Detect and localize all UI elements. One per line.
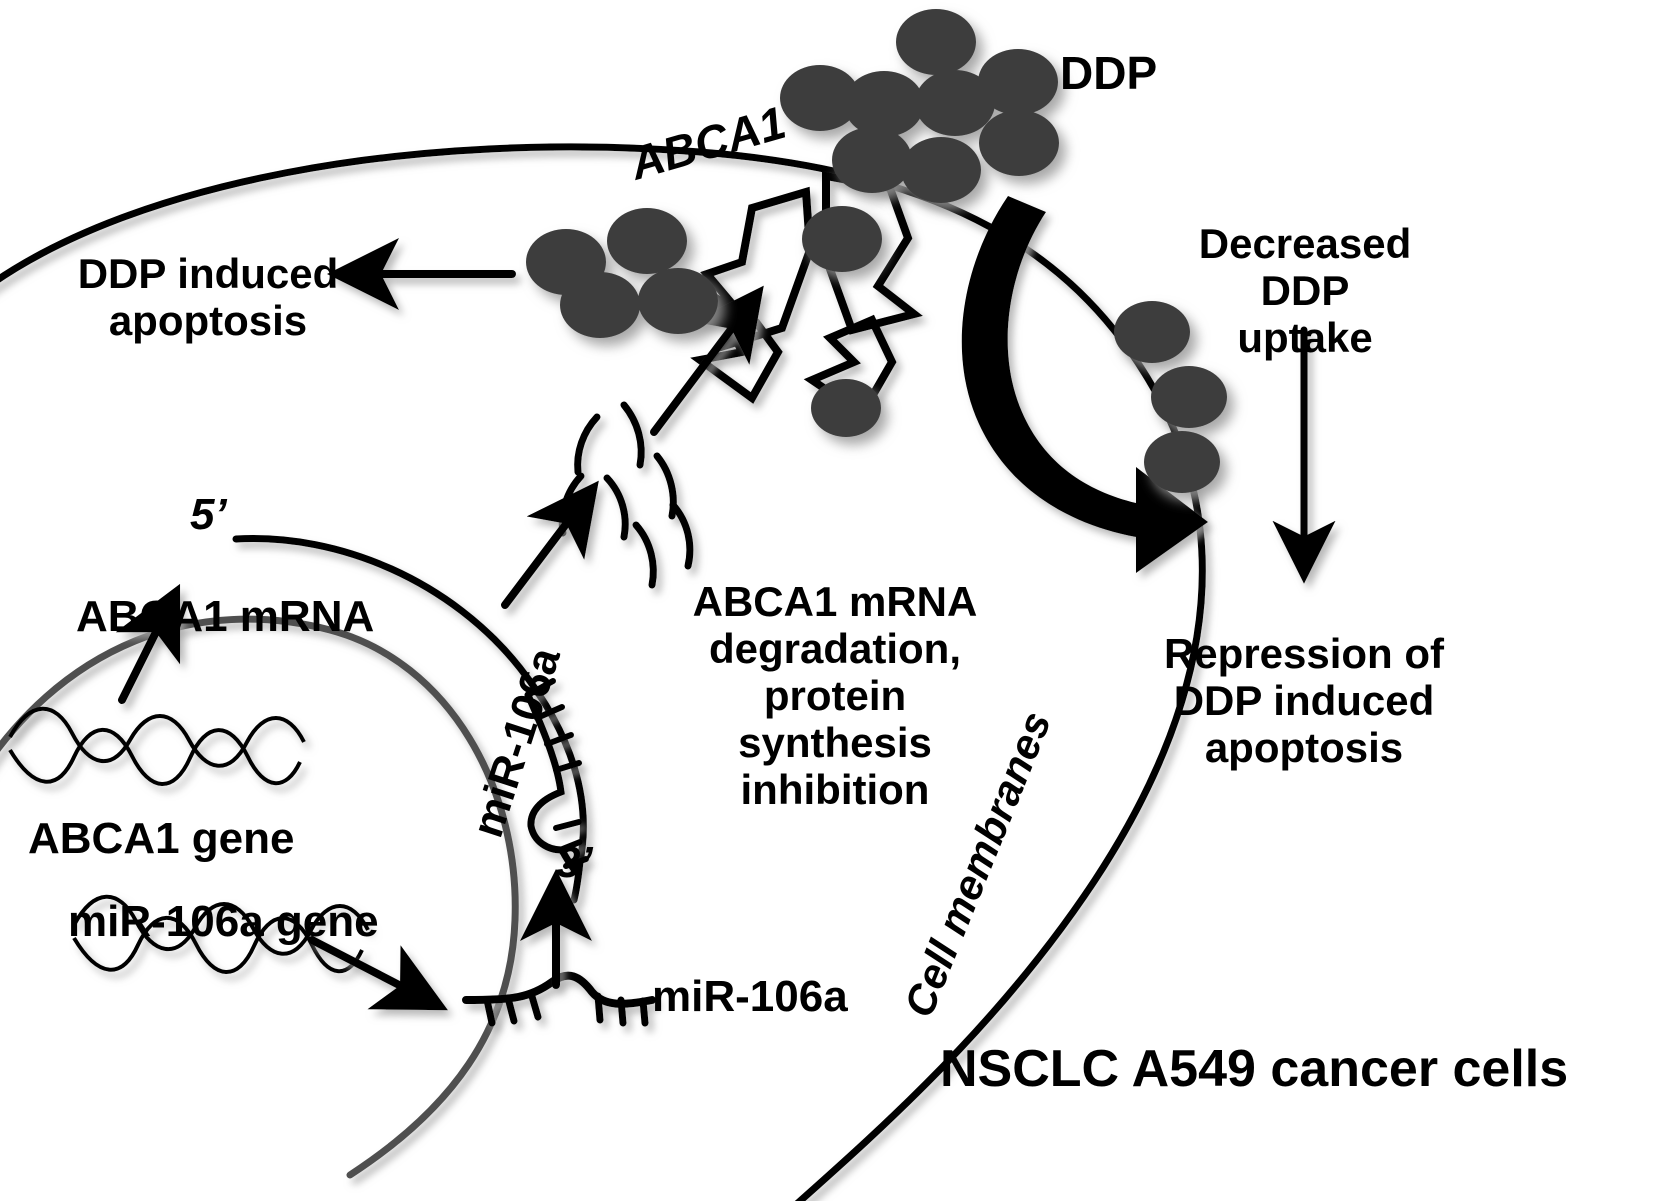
ddp-particle	[1144, 431, 1220, 493]
label-decreased-ddp-uptake: Decreased DDP uptake	[1160, 220, 1450, 361]
label-mir106a-gene: miR-106a gene	[68, 848, 379, 947]
label-ddp-induced-apoptosis: DDP induced apoptosis	[68, 250, 348, 344]
label-mir106a-gene-name: miR-106a	[68, 897, 264, 946]
ddp-particle	[607, 208, 687, 274]
ddp-particle	[638, 268, 718, 334]
ddp-particle	[901, 137, 981, 203]
label-three-prime: 3’	[556, 838, 593, 887]
ddp-particle	[832, 127, 912, 193]
label-mir106a-free: miR-106a	[652, 972, 848, 1021]
abca1-transporter	[700, 176, 914, 414]
ddp-particle	[811, 379, 881, 437]
label-abca1-mrna-gene: ABCA1	[76, 592, 228, 641]
ddp-particle	[1151, 366, 1227, 428]
figure-canvas: miR-106a Cell membranes ABCA1 DDP DDP in…	[0, 0, 1654, 1201]
label-cell-type: NSCLC A549 cancer cells	[940, 1040, 1568, 1098]
label-mir106a-gene-suffix: gene	[264, 897, 379, 946]
mir-export-arrow	[312, 940, 432, 1002]
label-abca1-mrna-suffix: mRNA	[228, 592, 375, 641]
ddp-particle	[896, 9, 976, 75]
ddp-particle	[979, 110, 1059, 176]
ddp-particle	[802, 206, 882, 272]
label-five-prime: 5’	[190, 490, 227, 539]
label-abca1-mrna: ABCA1 mRNA	[76, 543, 374, 642]
label-mrna-degradation: ABCA1 mRNA degradation, protein synthesi…	[640, 578, 1030, 813]
label-repression-apoptosis: Repression of DDP induced apoptosis	[1158, 630, 1450, 771]
degradation-arrow	[505, 495, 588, 605]
label-ddp: DDP	[1060, 48, 1157, 100]
ddp-particle	[978, 49, 1058, 115]
degraded-mrna-fragments	[562, 405, 690, 585]
ddp-particles-intracellular	[526, 206, 882, 437]
ddp-particle	[560, 272, 640, 338]
ddp-particles-extracellular	[780, 9, 1059, 203]
ddp-particle	[844, 71, 924, 137]
label-abca1-transporter: ABCA1	[623, 96, 791, 190]
